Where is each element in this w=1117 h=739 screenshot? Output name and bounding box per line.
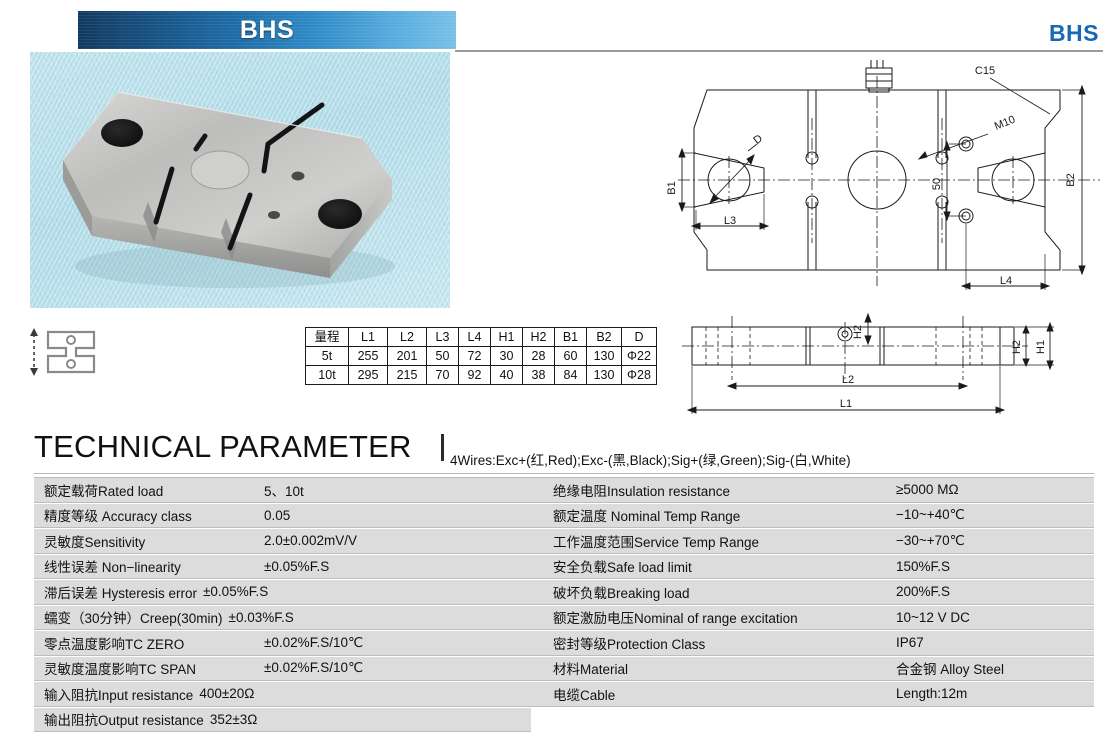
dim-header-cell: L4	[459, 328, 491, 347]
spec-value: ±0.05%F.S	[197, 584, 268, 599]
dim-header-cell: H1	[491, 328, 523, 347]
spec-name: 绝缘电阻Insulation resistance	[531, 480, 730, 500]
spec-name: 输出阻抗Output resistance	[34, 709, 204, 729]
spec-value: 10~12 V DC	[896, 610, 970, 625]
dim-cell: Φ28	[622, 366, 657, 385]
dim-cell: 50	[427, 347, 459, 366]
dim-header-cell: B2	[587, 328, 622, 347]
spec-row: 工作温度范围Service Temp Range −30~+70℃	[531, 528, 1094, 554]
dim-header-cell: D	[622, 328, 657, 347]
dim-cell: 215	[388, 366, 427, 385]
spec-row: 材料Material 合金钢 Alloy Steel	[531, 656, 1094, 682]
spec-row: 破坏负载Breaking load 200%F.S	[531, 579, 1094, 605]
spec-row: 蠕变（30分钟）Creep(30min) ±0.03%F.S	[34, 605, 531, 631]
spec-value: 2.0±0.002mV/V	[264, 533, 357, 548]
technical-parameter-heading: TECHNICAL PARAMETER 4Wires:Exc+(红,Red);E…	[34, 432, 1094, 466]
spec-row: 精度等级 Accuracy class 0.05	[34, 503, 531, 529]
dim-cell: Φ22	[622, 347, 657, 366]
dim-cell: 255	[349, 347, 388, 366]
dim-cell: 295	[349, 366, 388, 385]
spec-row: 绝缘电阻Insulation resistance ≥5000 MΩ	[531, 477, 1094, 503]
spec-value: −10~+40℃	[896, 507, 965, 523]
spec-row: 滞后误差 Hysteresis error ±0.05%F.S	[34, 579, 531, 605]
spec-name: 精度等级 Accuracy class	[34, 505, 192, 525]
spec-value: 352±3Ω	[204, 712, 258, 727]
spec-row: 电缆Cable Length:12m	[531, 681, 1094, 707]
spec-row: 额定激励电压Nominal of range excitation 10~12 …	[531, 605, 1094, 631]
spec-value: 5、10t	[264, 480, 304, 500]
spec-row: 输出阻抗Output resistance 352±3Ω	[34, 707, 531, 733]
spec-name: 电缆Cable	[531, 684, 615, 704]
spec-row: 灵敏度温度影响TC SPAN ±0.02%F.S/10℃	[34, 656, 531, 682]
dim-cell: 72	[459, 347, 491, 366]
spec-name: 零点温度影响TC ZERO	[34, 633, 184, 653]
dim-cell: 92	[459, 366, 491, 385]
dim-header-cell: H2	[523, 328, 555, 347]
drawing-top-view: B1 L3 D M10	[660, 58, 1117, 302]
dim-header-cell: L3	[427, 328, 459, 347]
spec-row: 额定载荷Rated load 5、10t	[34, 477, 531, 503]
dim-label-l4: L4	[1000, 275, 1012, 287]
dim-label-h2: H2	[1011, 340, 1023, 354]
dim-cell: 130	[587, 366, 622, 385]
dim-cell: 40	[491, 366, 523, 385]
datasheet-page: BHS BHS	[0, 0, 1117, 739]
spec-name: 滞后误差 Hysteresis error	[34, 582, 197, 602]
dim-label-d: D	[751, 132, 765, 146]
spec-row: 线性误差 Non−linearity ±0.05%F.S	[34, 554, 531, 580]
spec-table-left: 额定载荷Rated load 5、10t 精度等级 Accuracy class…	[34, 477, 531, 732]
spec-name: 额定温度 Nominal Temp Range	[531, 505, 740, 525]
spec-name: 工作温度范围Service Temp Range	[531, 531, 759, 551]
page-title: TECHNICAL PARAMETER	[34, 429, 412, 465]
dim-label-m10: M10	[993, 114, 1017, 133]
banner: BHS	[78, 11, 456, 49]
dim-label-c15: C15	[975, 65, 995, 77]
spec-row: 安全负载Safe load limit 150%F.S	[531, 554, 1094, 580]
dim-cell: 28	[523, 347, 555, 366]
dim-cell: 201	[388, 347, 427, 366]
table-row: 10t 295 215 70 92 40 38 84 130 Φ28	[306, 366, 657, 385]
spec-name: 输入阻抗Input resistance	[34, 684, 193, 704]
page-header: BHS BHS	[0, 0, 1117, 60]
spec-row: 灵敏度Sensitivity 2.0±0.002mV/V	[34, 528, 531, 554]
dim-label-h2-top: H2	[852, 325, 864, 339]
dim-header-cell: L1	[349, 328, 388, 347]
spec-row: 输入阻抗Input resistance 400±20Ω	[34, 681, 531, 707]
dim-header-cell: 量程	[306, 328, 349, 347]
title-separator-bar	[441, 434, 444, 461]
spec-name: 安全负载Safe load limit	[531, 556, 692, 576]
brand-label: BHS	[1049, 20, 1099, 47]
dim-header-cell: B1	[555, 328, 587, 347]
product-photo	[30, 52, 450, 308]
spec-row: 零点温度影响TC ZERO ±0.02%F.S/10℃	[34, 630, 531, 656]
dim-label-l3: L3	[724, 215, 736, 227]
spec-name: 额定载荷Rated load	[34, 480, 163, 500]
dim-header-cell: L2	[388, 328, 427, 347]
table-row: 5t 255 201 50 72 30 28 60 130 Φ22	[306, 347, 657, 366]
spec-value: ≥5000 MΩ	[896, 482, 959, 497]
spec-value: 200%F.S	[896, 584, 950, 599]
dim-cell: 10t	[306, 366, 349, 385]
spec-value: 合金钢 Alloy Steel	[896, 658, 1004, 678]
wiring-note: 4Wires:Exc+(红,Red);Exc-(黑,Black);Sig+(绿,…	[450, 449, 851, 469]
dim-cell: 60	[555, 347, 587, 366]
spec-value: ±0.02%F.S/10℃	[264, 635, 363, 651]
dim-cell: 70	[427, 366, 459, 385]
dim-cell: 5t	[306, 347, 349, 366]
dimension-table-header-row: 量程 L1 L2 L3 L4 H1 H2 B1 B2 D	[306, 328, 657, 347]
spec-name: 额定激励电压Nominal of range excitation	[531, 607, 798, 627]
spec-value: −30~+70℃	[896, 533, 965, 549]
dim-label-b2: B2	[1065, 173, 1077, 186]
spec-name: 灵敏度Sensitivity	[34, 531, 145, 551]
spec-value: 150%F.S	[896, 559, 950, 574]
dim-label-l1: L1	[840, 398, 852, 410]
spec-row: 额定温度 Nominal Temp Range −10~+40℃	[531, 503, 1094, 529]
spec-value: 0.05	[264, 508, 290, 523]
spec-name: 破坏负载Breaking load	[531, 582, 690, 602]
spec-name: 蠕变（30分钟）Creep(30min)	[34, 607, 223, 627]
dim-label-b1: B1	[666, 181, 678, 194]
spec-name: 材料Material	[531, 658, 628, 678]
spec-name: 灵敏度温度影响TC SPAN	[34, 658, 196, 678]
drawing-side-view: H2 H2 H1 L2	[678, 300, 1117, 420]
load-cell-illustration	[30, 52, 450, 308]
spec-name: 线性误差 Non−linearity	[34, 556, 181, 576]
cross-section-icon	[22, 316, 104, 396]
spec-value: IP67	[896, 635, 924, 650]
spec-table-right: 绝缘电阻Insulation resistance ≥5000 MΩ 额定温度 …	[531, 477, 1094, 707]
spec-value: Length:12m	[896, 686, 967, 701]
dim-cell: 130	[587, 347, 622, 366]
spec-name: 密封等级Protection Class	[531, 633, 705, 653]
dimension-table: 量程 L1 L2 L3 L4 H1 H2 B1 B2 D 5t 255 201 …	[305, 327, 657, 385]
banner-title: BHS	[240, 16, 294, 45]
spec-row: 密封等级Protection Class IP67	[531, 630, 1094, 656]
spec-value: 400±20Ω	[193, 686, 254, 701]
dim-cell: 30	[491, 347, 523, 366]
spec-value: ±0.05%F.S	[264, 559, 329, 574]
spec-value: ±0.02%F.S/10℃	[264, 660, 363, 676]
dim-cell: 84	[555, 366, 587, 385]
spec-value: ±0.03%F.S	[223, 610, 294, 625]
dim-label-50: 50	[931, 178, 943, 190]
dim-cell: 38	[523, 366, 555, 385]
dim-label-l2: L2	[842, 374, 854, 386]
header-divider	[455, 50, 1103, 52]
dim-label-h1: H1	[1035, 340, 1047, 354]
heading-underline	[34, 473, 1094, 474]
